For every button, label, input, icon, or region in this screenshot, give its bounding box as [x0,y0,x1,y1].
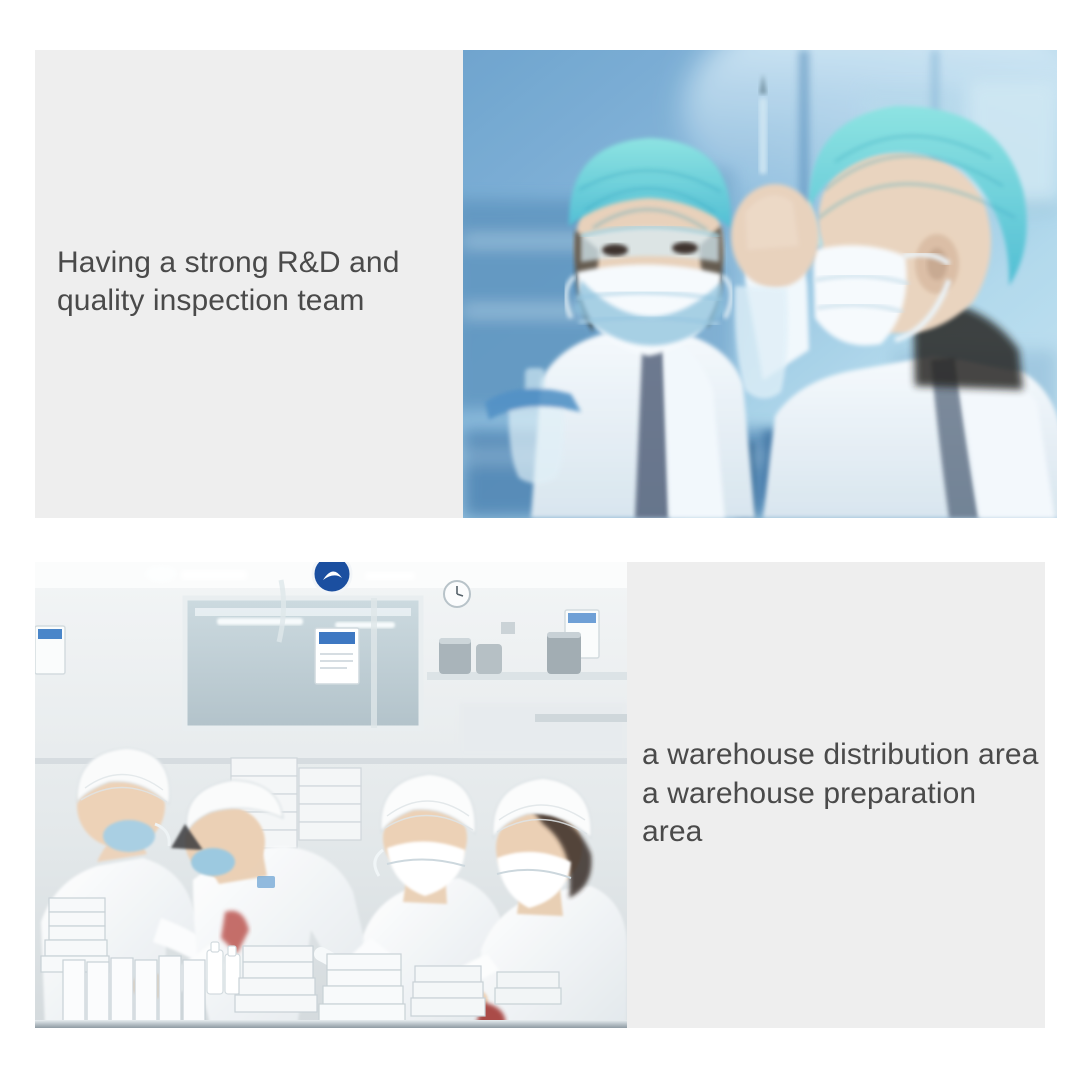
interior-window [185,598,421,728]
page-root: Having a strong R&D and quality inspecti… [0,0,1080,1080]
wall-sign-blue [313,562,351,593]
section-rnd-quality: Having a strong R&D and quality inspecti… [35,50,1057,518]
lab-inspection-photo [463,50,1057,518]
warehouse-caption-panel: a warehouse distribution area a warehous… [627,562,1045,1028]
warehouse-packing-photo [35,562,627,1028]
lab-inspection-illustration [463,50,1057,518]
section-warehouse-areas: a warehouse distribution area a warehous… [35,562,1045,1028]
warehouse-packing-illustration [35,562,627,1028]
rnd-quality-caption-panel: Having a strong R&D and quality inspecti… [35,50,463,518]
warehouse-caption: a warehouse distribution area a warehous… [627,736,1045,851]
rnd-quality-caption: Having a strong R&D and quality inspecti… [35,244,407,321]
stainless-steel-packing-table [35,1020,627,1028]
